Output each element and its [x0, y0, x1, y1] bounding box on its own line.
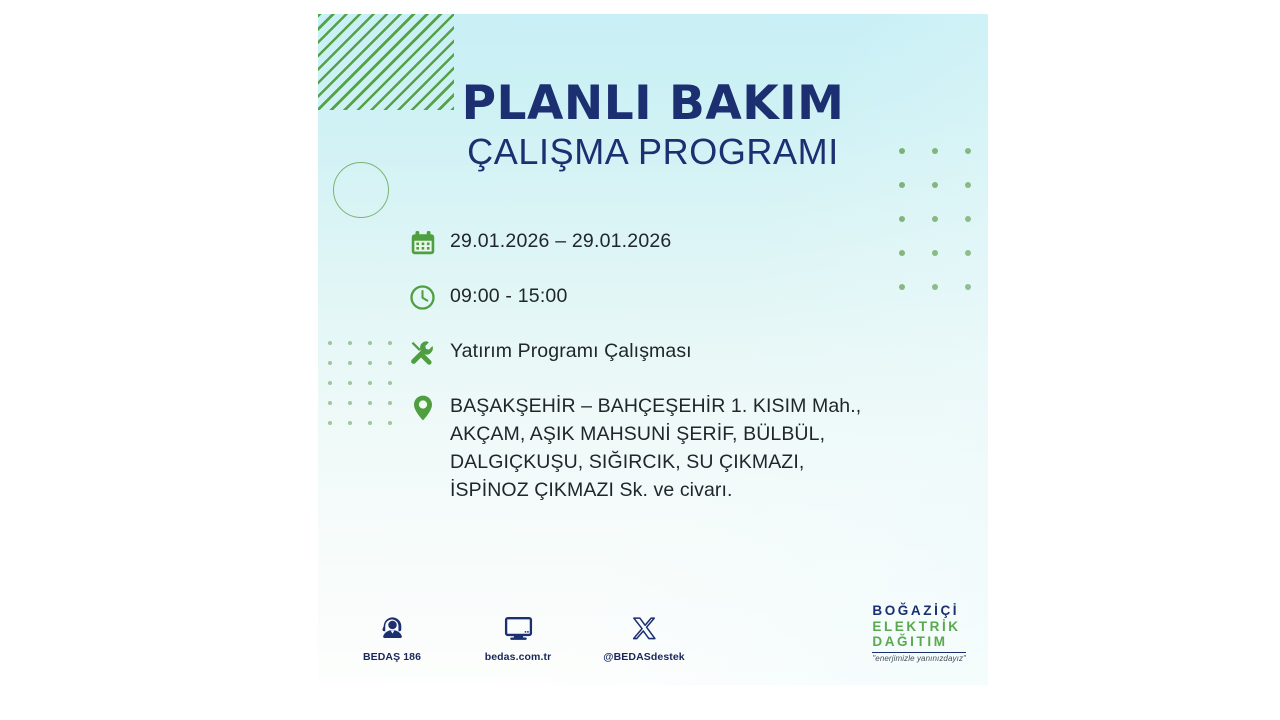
contact-x-account[interactable]: @BEDASdestek: [598, 608, 690, 663]
page-title: PLANLI BAKIM: [318, 80, 988, 129]
date-range-text: 29.01.2026 – 29.01.2026: [450, 227, 671, 255]
contact-website-label: bedas.com.tr: [472, 651, 564, 663]
clock-icon: [408, 282, 450, 317]
bedas-logo: BOĞAZİÇİ ELEKTRİK DAĞITIM "enerjimizle y…: [872, 603, 966, 663]
screen: PLANLI BAKIM ÇALIŞMA PROGRAMI: [0, 0, 1280, 720]
x-twitter-icon: [598, 608, 690, 644]
call-center-agent-icon: [346, 608, 438, 644]
tools-icon: [408, 337, 450, 372]
page-subtitle: ÇALIŞMA PROGRAMI: [318, 133, 988, 171]
brand-line-1: BOĞAZİÇİ: [872, 603, 966, 619]
poster-heading-block: PLANLI BAKIM ÇALIŞMA PROGRAMI: [318, 80, 988, 171]
brand-line-3: DAĞITIM: [872, 634, 966, 650]
location-pin-icon: [408, 392, 450, 427]
detail-row-date: 29.01.2026 – 29.01.2026: [408, 227, 968, 262]
contact-phone[interactable]: BEDAŞ 186: [346, 608, 438, 663]
calendar-icon: [408, 227, 450, 262]
work-type-text: Yatırım Programı Çalışması: [450, 337, 692, 365]
contact-bar: BEDAŞ 186 bedas.com.tr: [346, 608, 690, 663]
detail-row-address: BAŞAKŞEHİR – BAHÇEŞEHİR 1. KISIM Mah., A…: [408, 392, 968, 504]
contact-x-label: @BEDASdestek: [598, 651, 690, 663]
maintenance-notice-card: PLANLI BAKIM ÇALIŞMA PROGRAMI: [318, 14, 988, 685]
contact-phone-label: BEDAŞ 186: [346, 651, 438, 663]
monitor-icon: [472, 608, 564, 644]
detail-row-work-type: Yatırım Programı Çalışması: [408, 337, 968, 372]
brand-tagline: "enerjimizle yanınızdayız": [872, 654, 966, 663]
notice-details: 29.01.2026 – 29.01.2026 09:00 - 15:00: [408, 227, 968, 504]
address-text: BAŞAKŞEHİR – BAHÇEŞEHİR 1. KISIM Mah., A…: [450, 392, 861, 504]
dot-grid-left-decoration: [328, 341, 392, 425]
time-range-text: 09:00 - 15:00: [450, 282, 568, 310]
detail-row-time: 09:00 - 15:00: [408, 282, 968, 317]
contact-website[interactable]: bedas.com.tr: [472, 608, 564, 663]
brand-divider: [872, 652, 966, 653]
brand-line-2: ELEKTRİK: [872, 619, 966, 635]
